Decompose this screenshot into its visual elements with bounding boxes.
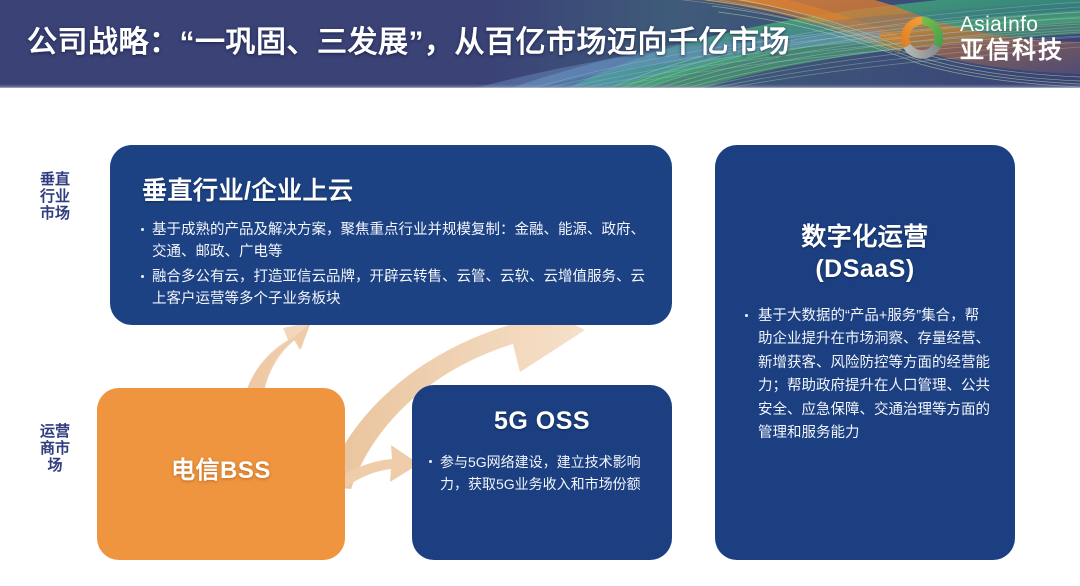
card-dsaas[interactable]: 数字化运营 (DSaaS) 基于大数据的“产品+服务”集合，帮助企业提升在市场洞… [715, 145, 1015, 560]
slide-canvas: 公司战略：“一巩固、三发展”，从百亿市场迈向千亿市场 [0, 0, 1080, 586]
logo-triangle-ring-icon [894, 10, 950, 66]
asiainfo-logo-text: AsiaInfo 亚信科技 [960, 14, 1064, 63]
header-banner: 公司战略：“一巩固、三发展”，从百亿市场迈向千亿市场 [0, 0, 1080, 88]
card-telecom-bss-title: 电信BSS [97, 450, 345, 485]
side-label-vertical-market: 垂直行业市场 [40, 172, 70, 222]
card-dsaas-title: 数字化运营 (DSaaS) [715, 222, 1015, 285]
logo-text-english: AsiaInfo [960, 14, 1064, 35]
card-vertical-industry-title: 垂直行业/企业上云 [142, 171, 353, 207]
card-vertical-industry-bullets: 基于成熟的产品及解决方案，聚焦重点行业并规模复制：金融、能源、政府、交通、邮政、… [140, 219, 645, 313]
page-title: 公司战略：“一巩固、三发展”，从百亿市场迈向千亿市场 [27, 17, 790, 61]
side-label-carrier-market: 运营商市场 [40, 424, 70, 474]
card-5g-oss-bullets: 参与5G网络建设，建立技术影响力，获取5G业务收入和市场份额 [428, 451, 662, 498]
list-item: 基于成熟的产品及解决方案，聚焦重点行业并规模复制：金融、能源、政府、交通、邮政、… [140, 219, 645, 264]
list-item: 融合多公有云，打造亚信云品牌，开辟云转售、云管、云软、云增值服务、云上客户运营等… [140, 266, 645, 311]
list-item: 基于大数据的“产品+服务”集合，帮助企业提升在市场洞察、存量经营、新增获客、风险… [743, 305, 991, 446]
card-5g-oss-title: 5G OSS [412, 407, 672, 436]
card-5g-oss[interactable]: 5G OSS 参与5G网络建设，建立技术影响力，获取5G业务收入和市场份额 [412, 385, 672, 560]
card-telecom-bss[interactable]: 电信BSS [97, 388, 345, 560]
header-bottom-shadow [0, 84, 1080, 88]
logo-text-chinese: 亚信科技 [960, 39, 1064, 63]
card-dsaas-title-line1: 数字化运营 [715, 222, 1015, 254]
asiainfo-logo-mark [894, 10, 950, 66]
card-dsaas-title-line2: (DSaaS) [715, 254, 1015, 286]
card-dsaas-bullets: 基于大数据的“产品+服务”集合，帮助企业提升在市场洞察、存量经营、新增获客、风险… [743, 305, 991, 448]
asiainfo-logo: AsiaInfo 亚信科技 [894, 10, 1064, 66]
card-vertical-industry[interactable]: 垂直行业/企业上云 基于成熟的产品及解决方案，聚焦重点行业并规模复制：金融、能源… [110, 145, 672, 325]
list-item: 参与5G网络建设，建立技术影响力，获取5G业务收入和市场份额 [428, 451, 662, 496]
